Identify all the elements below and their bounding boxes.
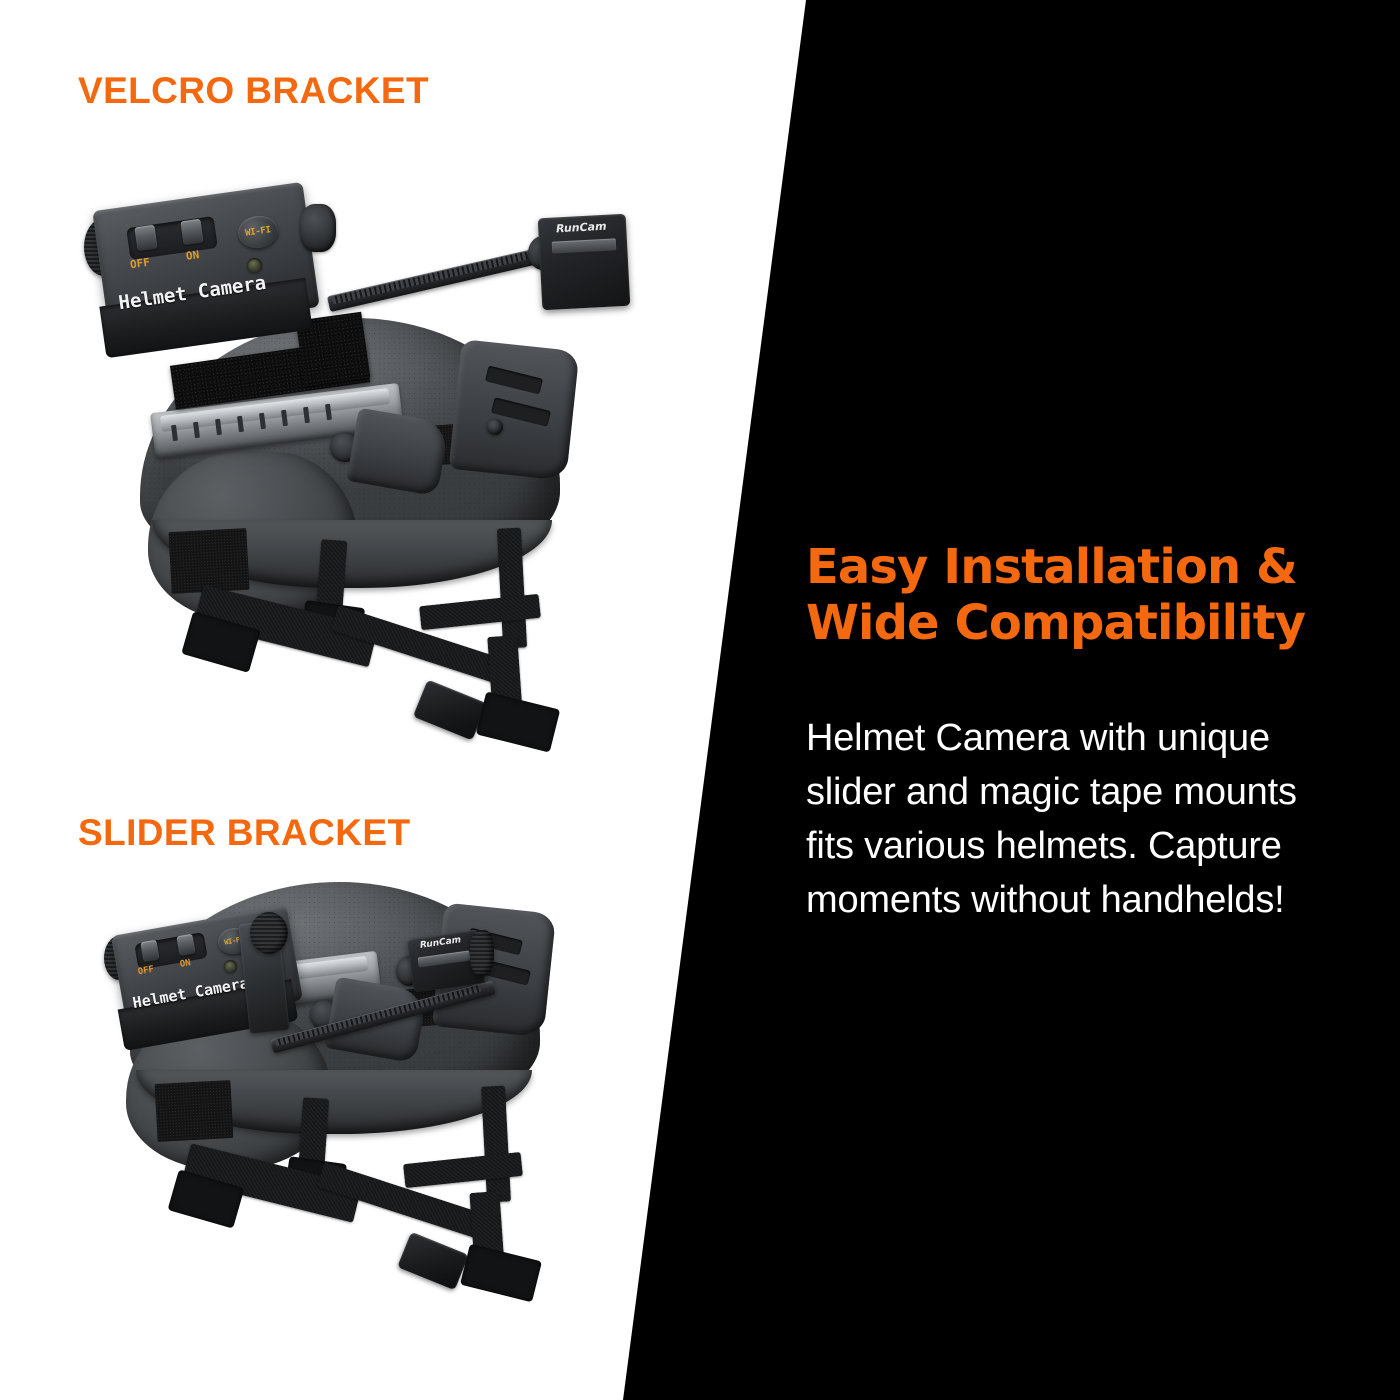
power-switch-knob-on[interactable] [176, 934, 195, 956]
switch-label-off: OFF [129, 257, 150, 271]
helmet-camera-slider-mount: OFF ON WI-FI Helmet Camera RunCam [0, 860, 700, 1160]
runcam-brand-logo: RunCam [556, 221, 607, 235]
velcro-bracket-figure: OFF ON WI-FI Helmet Camera RunCam [0, 0, 700, 800]
led-indicator-port [247, 258, 262, 273]
lens-head-end-cap [470, 930, 494, 976]
switch-label-on: ON [185, 249, 200, 262]
helmet-camera-velcro-mount: OFF ON WI-FI Helmet Camera RunCam [0, 0, 700, 420]
feature-headline-line-2: Wide Compatibility [806, 596, 1326, 652]
feature-description: Helmet Camera with unique slider and mag… [806, 712, 1346, 928]
led-indicator-port [224, 960, 237, 973]
power-switch-knob-on[interactable] [180, 219, 203, 246]
arc-rail-screw [487, 419, 503, 435]
chin-strap-buckle [397, 1232, 469, 1290]
strap-end-pad [460, 1244, 542, 1303]
slider-bracket-heading: SLIDER BRACKET [78, 812, 410, 854]
feature-headline-line-1: Easy Installation & [806, 540, 1326, 596]
camera-pivot-hinge[interactable] [300, 204, 336, 252]
product-feature-graphic: VELCRO BRACKET [0, 0, 1400, 1400]
strap-end-pad [476, 691, 560, 752]
feature-headline: Easy Installation & Wide Compatibility [806, 540, 1326, 651]
power-switch-knob-off[interactable] [134, 225, 157, 252]
wifi-button-label: WI-FI [245, 226, 272, 238]
camera-arm-teeth [275, 985, 482, 1047]
camera-arm-teeth [332, 252, 529, 305]
power-switch-knob-off[interactable] [140, 940, 159, 962]
switch-label-on: ON [179, 959, 191, 970]
slider-clamp-thumbwheel[interactable] [250, 912, 288, 954]
slider-bracket-figure: OFF ON WI-FI Helmet Camera RunCam [0, 860, 700, 1400]
helmet-velcro-patch-ear [168, 528, 249, 594]
